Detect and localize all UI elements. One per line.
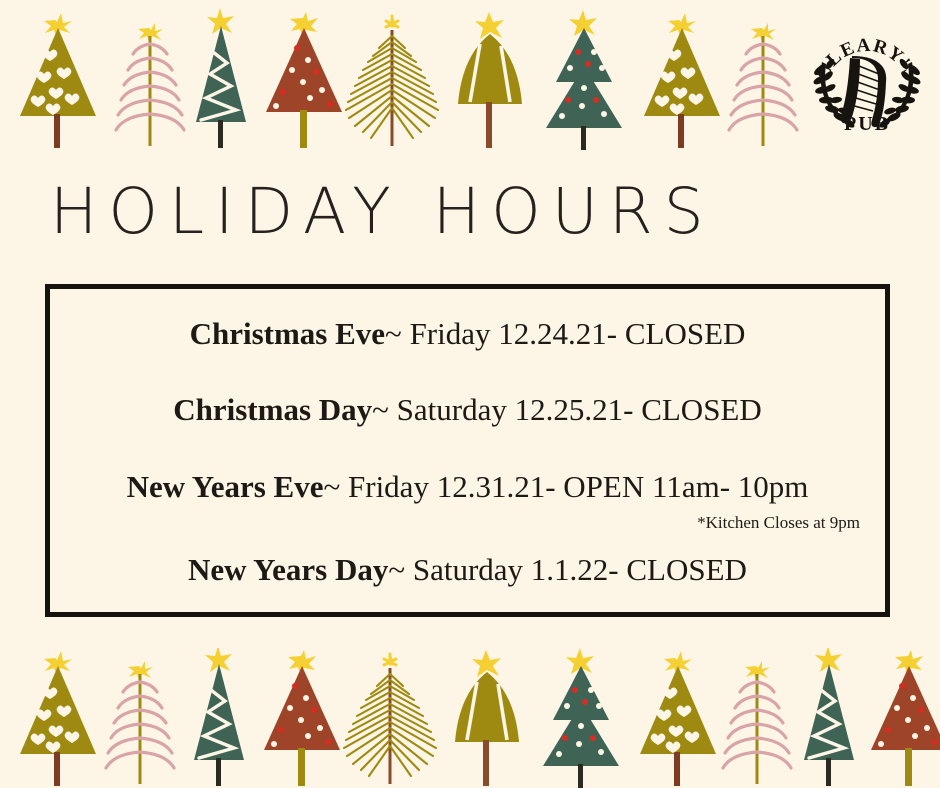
tree-olive-heart-triangle: [8, 0, 108, 150]
hours-row-new-years-day: New Years Day~ Saturday 1.1.22- CLOSED: [50, 553, 885, 587]
tree-olive-heart-triangle: [8, 648, 108, 788]
tree-olive-feather-pine: [335, 0, 450, 150]
holiday-detail: ~ Friday 12.31.21- OPEN 11am- 10pm: [323, 469, 808, 504]
holiday-detail: ~ Friday 12.24.21- CLOSED: [385, 316, 745, 351]
holiday-name: Christmas Day: [173, 392, 372, 427]
hours-row-christmas-eve: Christmas Eve~ Friday 12.24.21- CLOSED: [50, 317, 885, 351]
tree-olive-heart-triangle: [632, 0, 732, 150]
tree-pink-branch: [712, 648, 802, 788]
tree-olive-bell-striped: [440, 648, 535, 788]
kitchen-note: *Kitchen Closes at 9pm: [697, 513, 860, 533]
hours-row-christmas-day: Christmas Day~ Saturday 12.25.21- CLOSED: [50, 393, 885, 427]
hours-row-new-years-eve: New Years Eve~ Friday 12.31.21- OPEN 11a…: [50, 470, 885, 504]
logo-brand-bottom: PUB: [844, 113, 890, 135]
tree-green-two-tier: [530, 0, 640, 150]
hours-list: Christmas Eve~ Friday 12.24.21- CLOSED C…: [50, 289, 885, 612]
tree-pink-branch: [718, 0, 808, 150]
tree-rust-dotted: [855, 648, 940, 788]
hours-box: Christmas Eve~ Friday 12.24.21- CLOSED C…: [45, 284, 890, 617]
holiday-name: Christmas Eve: [190, 316, 385, 351]
holiday-detail: ~ Saturday 12.25.21- CLOSED: [372, 392, 762, 427]
cleary-pub-logo: CLEARY'S PUB: [806, 18, 928, 140]
tree-pink-branch: [95, 648, 185, 788]
holiday-hours-poster: CLEARY'S PUB HOLIDAY HOURS Christmas Eve…: [0, 0, 940, 788]
tree-row-bottom: [0, 648, 940, 788]
tree-row-top: [0, 0, 940, 150]
tree-green-two-tier: [527, 648, 637, 788]
tree-olive-bell-striped: [443, 0, 538, 150]
tree-olive-feather-pine: [333, 648, 448, 788]
page-title: HOLIDAY HOURS: [50, 175, 715, 248]
holiday-detail: ~ Saturday 1.1.22- CLOSED: [388, 552, 747, 587]
holiday-name: New Years Day: [188, 552, 388, 587]
holiday-name: New Years Eve: [127, 469, 324, 504]
